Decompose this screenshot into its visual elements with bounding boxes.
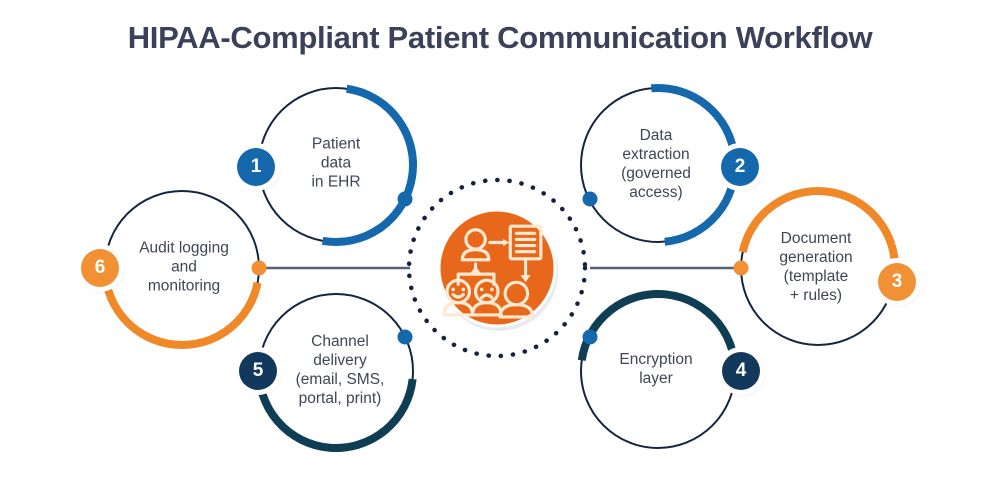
connection-dot-6 [252,261,267,276]
node-ring-1[interactable] [259,88,413,242]
node-badge-4[interactable]: 4 [722,352,760,390]
node-badge-1[interactable]: 1 [237,148,275,186]
node-badge-6[interactable]: 6 [81,249,119,287]
node-badge-2[interactable]: 2 [721,148,759,186]
connection-dot-5 [398,330,413,345]
node-badge-5[interactable]: 5 [239,352,277,390]
connection-dot-2 [583,192,598,207]
node-ring-6[interactable] [105,191,259,345]
center-hub [409,180,585,356]
connection-dot-3 [734,261,749,276]
node-ring-4[interactable] [581,294,735,448]
infographic-page: HIPAA-Compliant Patient Communication Wo… [0,0,1000,484]
node-badge-3[interactable]: 3 [878,263,916,301]
node-ring-5[interactable] [259,294,413,448]
node-ring-2[interactable] [581,88,735,242]
connection-dot-1 [398,192,413,207]
connection-dot-4 [583,330,598,345]
node-ring-3[interactable] [741,191,895,345]
diagram-canvas [0,0,1000,484]
